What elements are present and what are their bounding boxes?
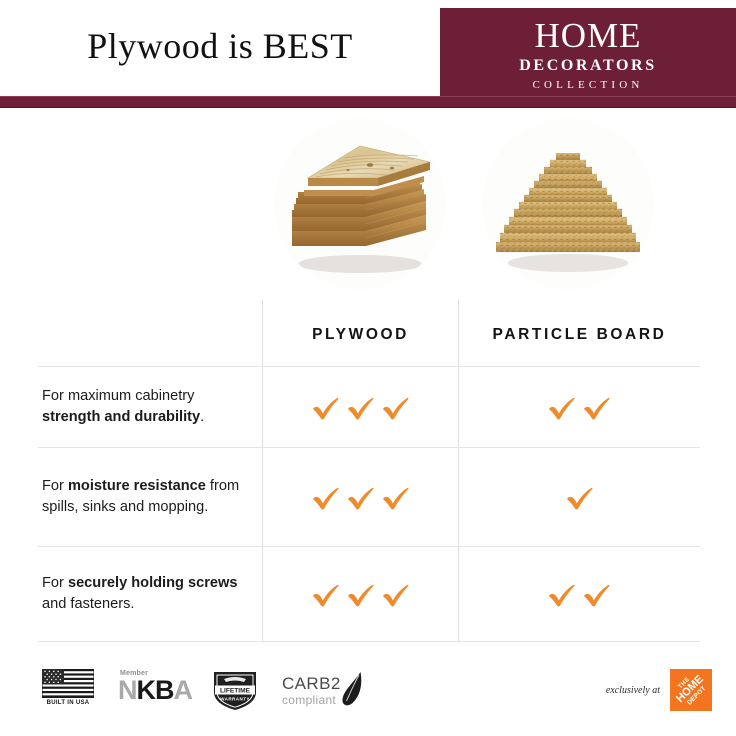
- brand-logo-home: HOME: [534, 18, 641, 53]
- check-icon: [546, 578, 578, 610]
- column-header-particle-board: PARTICLE BOARD: [459, 320, 700, 350]
- row-label: For moisture resistance from spills, sin…: [42, 476, 254, 518]
- carb2-text: CARB2 compliant: [282, 675, 341, 706]
- usa-flag-icon: [42, 669, 94, 698]
- home-depot-group: exclusively at THE HOME DEPOT: [606, 667, 712, 713]
- rating-plywood: [263, 387, 458, 427]
- check-icon: [380, 481, 412, 513]
- carb2-title: CARB2: [282, 675, 341, 692]
- exclusively-at-label: exclusively at: [606, 685, 660, 696]
- home-depot-logo: THE HOME DEPOT: [670, 669, 712, 711]
- header-accent-bar: [0, 96, 736, 108]
- table-row: For maximum cabinetry strength and durab…: [38, 367, 700, 447]
- check-icon: [310, 391, 342, 423]
- particle-board-photo-circle: [482, 118, 654, 290]
- check-icon: [345, 578, 377, 610]
- rating-particle-board: [459, 574, 700, 614]
- table-row: For securely holding screws and fastener…: [38, 547, 700, 641]
- warranty-main-text: LIFETIME: [220, 687, 251, 694]
- home-depot-logo-text: THE HOME DEPOT: [670, 669, 712, 711]
- rating-particle-board: [459, 477, 700, 517]
- certification-badges: BUILT IN USA Member NKBA LIFETIME WARRAN…: [42, 667, 366, 713]
- brand-logo-collection: COLLECTION: [532, 80, 643, 91]
- check-icon: [581, 578, 613, 610]
- check-icon: [345, 481, 377, 513]
- rating-particle-board: [459, 387, 700, 427]
- nkba-letter-n: N: [118, 675, 137, 705]
- plywood-illustration: [274, 118, 446, 290]
- particle-board-photo: [482, 118, 654, 290]
- product-images: [0, 112, 736, 292]
- leaf-icon: [340, 671, 364, 707]
- built-in-usa-badge: BUILT IN USA: [42, 669, 94, 711]
- nkba-badge: Member NKBA: [116, 669, 188, 711]
- carb2-compliant-badge: CARB2 compliant: [282, 669, 366, 711]
- check-icon: [581, 391, 613, 423]
- rating-plywood: [263, 477, 458, 517]
- particle-board-illustration: [482, 118, 654, 290]
- row-divider-3: [38, 641, 700, 642]
- check-icon: [564, 481, 596, 513]
- check-icon: [310, 481, 342, 513]
- check-icon: [345, 391, 377, 423]
- page-title-text: Plywood is BEST: [87, 25, 353, 71]
- footer: BUILT IN USA Member NKBA LIFETIME WARRAN…: [0, 655, 736, 736]
- column-header-plywood: PLYWOOD: [263, 320, 458, 350]
- brand-logo-decorators: DECORATORS: [519, 58, 656, 74]
- check-icon: [546, 391, 578, 423]
- check-icon: [380, 391, 412, 423]
- plywood-photo: [274, 118, 446, 290]
- shield-icon: LIFETIME WARRANTY: [210, 668, 260, 712]
- page-title: Plywood is BEST: [0, 0, 440, 96]
- plywood-photo-circle: [274, 118, 446, 290]
- built-in-usa-label: BUILT IN USA: [42, 700, 94, 706]
- carb2-subtitle: compliant: [282, 694, 341, 706]
- brand-logo: HOME DECORATORS COLLECTION: [440, 8, 736, 100]
- nkba-letter-a: A: [174, 675, 193, 705]
- row-label: For maximum cabinetry strength and durab…: [42, 386, 254, 428]
- check-icon: [310, 578, 342, 610]
- nkba-letters-kb: KB: [137, 675, 174, 705]
- warranty-sub-text: WARRANTY: [220, 697, 250, 702]
- check-icon: [380, 578, 412, 610]
- rating-plywood: [263, 574, 458, 614]
- nkba-letters: NKBA: [118, 677, 192, 704]
- header: Plywood is BEST HOME DECORATORS COLLECTI…: [0, 0, 736, 108]
- comparison-table: PLYWOOD PARTICLE BOARD For maximum cabin…: [38, 300, 700, 642]
- table-row: For moisture resistance from spills, sin…: [38, 448, 700, 546]
- row-label: For securely holding screws and fastener…: [42, 573, 254, 615]
- lifetime-warranty-badge: LIFETIME WARRANTY: [210, 668, 260, 712]
